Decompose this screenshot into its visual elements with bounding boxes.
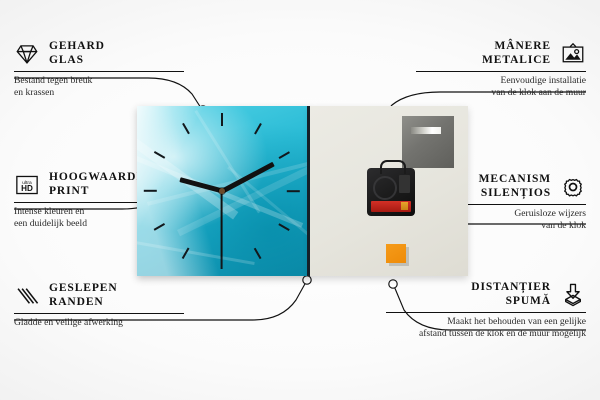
feature-distantier-spuma: DISTANȚIER SPUMĂ Maakt het behouden van … [386, 281, 586, 339]
clock-back-panel [310, 106, 468, 276]
feature-title: MÂNERE METALICE [482, 40, 551, 67]
feature-manere-metalice: MÂNERE METALICE Eenvoudige installatie v… [416, 40, 586, 98]
feature-description: Maakt het behouden van een gelijke afsta… [386, 316, 586, 339]
svg-text:HD: HD [21, 184, 33, 193]
gear-icon [560, 174, 586, 200]
feature-header: MÂNERE METALICE [416, 40, 586, 67]
battery [371, 201, 411, 212]
clock-tick [222, 190, 300, 192]
ultra-hd-icon: ultra HD [14, 172, 40, 198]
foam-spacer [386, 244, 406, 263]
picture-frame-icon [560, 41, 586, 67]
feature-header: GEHARD GLAS [14, 40, 184, 67]
diamond-icon [14, 41, 40, 67]
mechanism-hook [380, 160, 406, 174]
feature-description: Bestand tegen breuk en krassen [14, 75, 184, 98]
feature-header: GESLEPEN RANDEN [14, 282, 184, 309]
feature-description: Eenvoudige installatie van de klok aan d… [416, 75, 586, 98]
divider [14, 71, 184, 72]
mechanism-block [399, 175, 410, 193]
battery-terminal [401, 202, 408, 210]
feature-title: MECANISM SILENȚIOS [479, 173, 551, 200]
divider [14, 313, 184, 314]
feature-title: GESLEPEN RANDEN [49, 282, 118, 309]
hand-cap [219, 188, 225, 194]
diagonal-lines-icon [14, 283, 40, 309]
feature-geslepen-randen: GESLEPEN RANDEN Gladde en veilige afwerk… [14, 282, 184, 329]
infographic-canvas: GEHARD GLAS Bestand tegen breuk en krass… [0, 0, 600, 400]
clock-face [137, 106, 310, 276]
divider [416, 71, 586, 72]
feature-header: DISTANȚIER SPUMĂ [386, 281, 586, 308]
feature-description: Gladde en veilige afwerking [14, 317, 184, 329]
feature-title: DISTANȚIER SPUMĂ [471, 281, 551, 308]
divider [386, 312, 586, 313]
hanger-slot [411, 127, 441, 134]
mechanism-dial [373, 176, 397, 200]
metal-hanger-plate [402, 116, 454, 168]
down-arrow-pad-icon [560, 282, 586, 308]
second-hand [221, 191, 223, 257]
feature-title: GEHARD GLAS [49, 40, 105, 67]
clock-tick [221, 113, 223, 191]
feature-gehard-glas: GEHARD GLAS Bestand tegen breuk en krass… [14, 40, 184, 98]
silent-clock-mechanism [367, 168, 415, 216]
